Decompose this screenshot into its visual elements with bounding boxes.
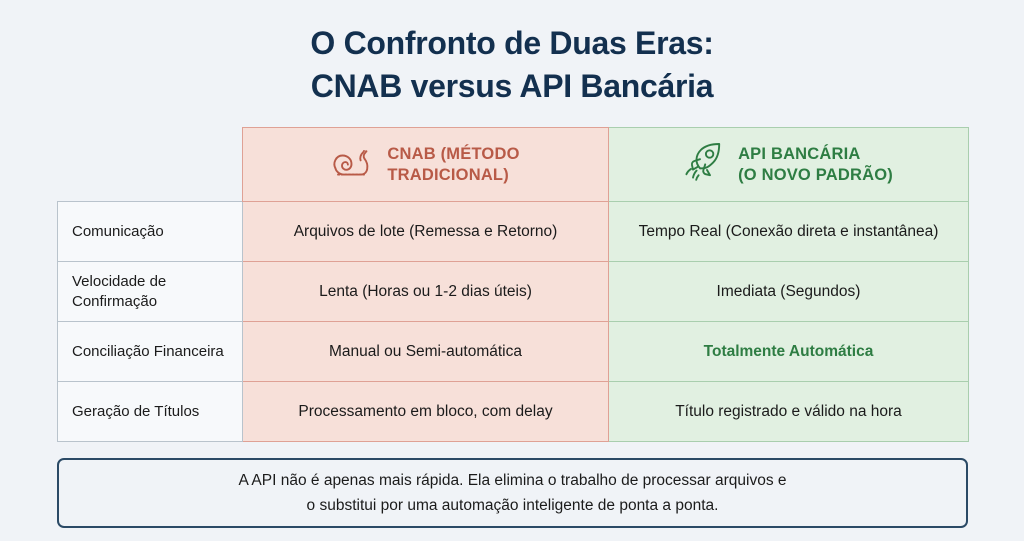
table-header-row: CNAB (MÉTODO TRADICIONAL)	[58, 128, 969, 202]
table-row: Conciliação Financeira Manual ou Semi-au…	[58, 322, 969, 382]
row-label-geracao-de-titulos: Geração de Títulos	[58, 382, 243, 442]
header-cnab-line-2: TRADICIONAL)	[387, 166, 509, 184]
row-label-velocidade-de-confirmacao: Velocidade de Confirmação	[58, 262, 243, 322]
row-label-comunicacao: Comunicação	[58, 202, 243, 262]
cell-cnab-velocidade-de-confirmacao: Lenta (Horas ou 1-2 dias úteis)	[243, 262, 609, 322]
table-header: CNAB (MÉTODO TRADICIONAL)	[58, 128, 969, 202]
row-label-conciliacao-financeira: Conciliação Financeira	[58, 322, 243, 382]
header-label-column-spacer	[58, 128, 243, 202]
cell-api-velocidade-de-confirmacao: Imediata (Segundos)	[609, 262, 969, 322]
footer-line-1: A API não é apenas mais rápida. Ela elim…	[239, 472, 787, 489]
comparison-table: CNAB (MÉTODO TRADICIONAL)	[57, 127, 969, 442]
page-title: O Confronto de Duas Eras: CNAB versus AP…	[0, 22, 1024, 108]
footer-callout-text: A API não é apenas mais rápida. Ela elim…	[221, 468, 805, 518]
rocket-icon	[684, 142, 726, 188]
footer-line-2: o substitui por uma automação inteligent…	[307, 497, 719, 514]
cell-api-conciliacao-financeira: Totalmente Automática	[609, 322, 969, 382]
header-cnab: CNAB (MÉTODO TRADICIONAL)	[243, 128, 609, 202]
cell-api-geracao-de-titulos: Título registrado e válido na hora	[609, 382, 969, 442]
header-api: API BANCÁRIA (O NOVO PADRÃO)	[609, 128, 969, 202]
header-cnab-line-1: CNAB (MÉTODO	[387, 145, 519, 163]
cell-api-comunicacao: Tempo Real (Conexão direta e instantânea…	[609, 202, 969, 262]
page-title-line-1: O Confronto de Duas Eras:	[0, 22, 1024, 65]
footer-callout: A API não é apenas mais rápida. Ela elim…	[57, 458, 968, 528]
table-body: Comunicação Arquivos de lote (Remessa e …	[58, 202, 969, 442]
comparison-table-wrapper: CNAB (MÉTODO TRADICIONAL)	[57, 127, 968, 442]
page-title-line-2: CNAB versus API Bancária	[0, 65, 1024, 108]
cell-cnab-geracao-de-titulos: Processamento em bloco, com delay	[243, 382, 609, 442]
table-row: Velocidade de Confirmação Lenta (Horas o…	[58, 262, 969, 322]
header-api-line-1: API BANCÁRIA	[738, 145, 860, 163]
table-row: Comunicação Arquivos de lote (Remessa e …	[58, 202, 969, 262]
snail-icon	[331, 144, 375, 186]
cell-cnab-conciliacao-financeira: Manual ou Semi-automática	[243, 322, 609, 382]
table-row: Geração de Títulos Processamento em bloc…	[58, 382, 969, 442]
header-api-line-2: (O NOVO PADRÃO)	[738, 166, 893, 184]
cell-cnab-comunicacao: Arquivos de lote (Remessa e Retorno)	[243, 202, 609, 262]
